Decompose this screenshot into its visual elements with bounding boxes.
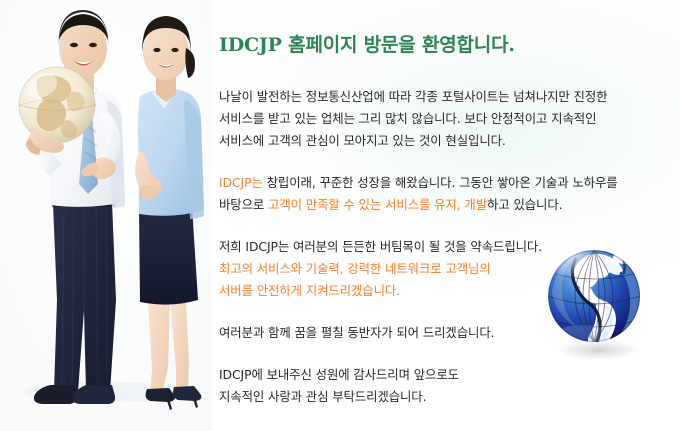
text-line: IDCJP에 보내주신 성원에 감사드리며 앞으로도 bbox=[219, 364, 671, 386]
page-title: IDCJP 홈페이지 방문을 환영합니다. bbox=[219, 30, 515, 57]
blue-earth-globe bbox=[542, 242, 646, 366]
highlighted-text: 최고의 서비스와 기술력, 강력한 네트워크로 고객님의 bbox=[219, 261, 491, 276]
highlighted-text: IDCJP는 bbox=[219, 175, 263, 190]
highlighted-text: 서버를 안전하게 지켜드리겠습니다. bbox=[219, 283, 400, 298]
text-line: 서비스를 받고 있는 업체는 그리 많치 않습니다. 보다 안정적이고 지속적인 bbox=[219, 108, 671, 130]
antique-globe bbox=[19, 67, 95, 143]
body-text: 서비스에 고객의 관심이 모아지고 있는 것이 현실입니다. bbox=[219, 133, 506, 148]
business-couple-photo bbox=[0, 0, 212, 431]
body-text: 저희 IDCJP는 여러분의 든든한 버팀목이 될 것을 약속드립니다. bbox=[219, 239, 542, 254]
body-text: 서비스를 받고 있는 업체는 그리 많치 않습니다. 보다 안정적이고 지속적인 bbox=[219, 111, 596, 126]
promo-banner: IDCJP 홈페이지 방문을 환영합니다. 나날이 발전하는 정보통신산업에 따… bbox=[0, 0, 680, 431]
text-line: 지속적인 사랑과 관심 부탁드리겠습니다. bbox=[219, 386, 671, 408]
growth-paragraph: IDCJP는 창립이래, 꾸준한 성장을 해왔습니다. 그동안 쌓아온 기술과 … bbox=[219, 172, 671, 216]
text-line: 바탕으로 고객이 만족할 수 있는 서비스를 유지, 개발하고 있습니다. bbox=[219, 194, 671, 216]
thanks-paragraph: IDCJP에 보내주신 성원에 감사드리며 앞으로도지속적인 사랑과 관심 부탁… bbox=[219, 364, 671, 408]
body-text: 지속적인 사랑과 관심 부탁드리겠습니다. bbox=[219, 389, 426, 404]
text-line: 나날이 발전하는 정보통신산업에 따라 각종 포털사이트는 넘쳐나지만 진정한 bbox=[219, 86, 671, 108]
body-text: 창립이래, 꾸준한 성장을 해왔습니다. 그동안 쌓아온 기술과 노하우를 bbox=[263, 175, 618, 190]
body-text: IDCJP에 보내주신 성원에 감사드리며 앞으로도 bbox=[219, 367, 459, 382]
body-text: 여러분과 함께 꿈을 펼칠 동반자가 되어 드리겠습니다. bbox=[219, 325, 494, 340]
body-text: 하고 있습니다. bbox=[487, 197, 562, 212]
text-line: 서비스에 고객의 관심이 모아지고 있는 것이 현실입니다. bbox=[219, 130, 671, 152]
highlighted-text: 고객이 만족할 수 있는 서비스를 유지, 개발 bbox=[268, 197, 487, 212]
body-text: 나날이 발전하는 정보통신산업에 따라 각종 포털사이트는 넘쳐나지만 진정한 bbox=[219, 89, 607, 104]
text-line: IDCJP는 창립이래, 꾸준한 성장을 해왔습니다. 그동안 쌓아온 기술과 … bbox=[219, 172, 671, 194]
body-text: 바탕으로 bbox=[219, 197, 268, 212]
welcome-content: IDCJP 홈페이지 방문을 환영합니다. 나날이 발전하는 정보통신산업에 따… bbox=[219, 0, 671, 431]
intro-paragraph: 나날이 발전하는 정보통신산업에 따라 각종 포털사이트는 넘쳐나지만 진정한서… bbox=[219, 86, 671, 152]
